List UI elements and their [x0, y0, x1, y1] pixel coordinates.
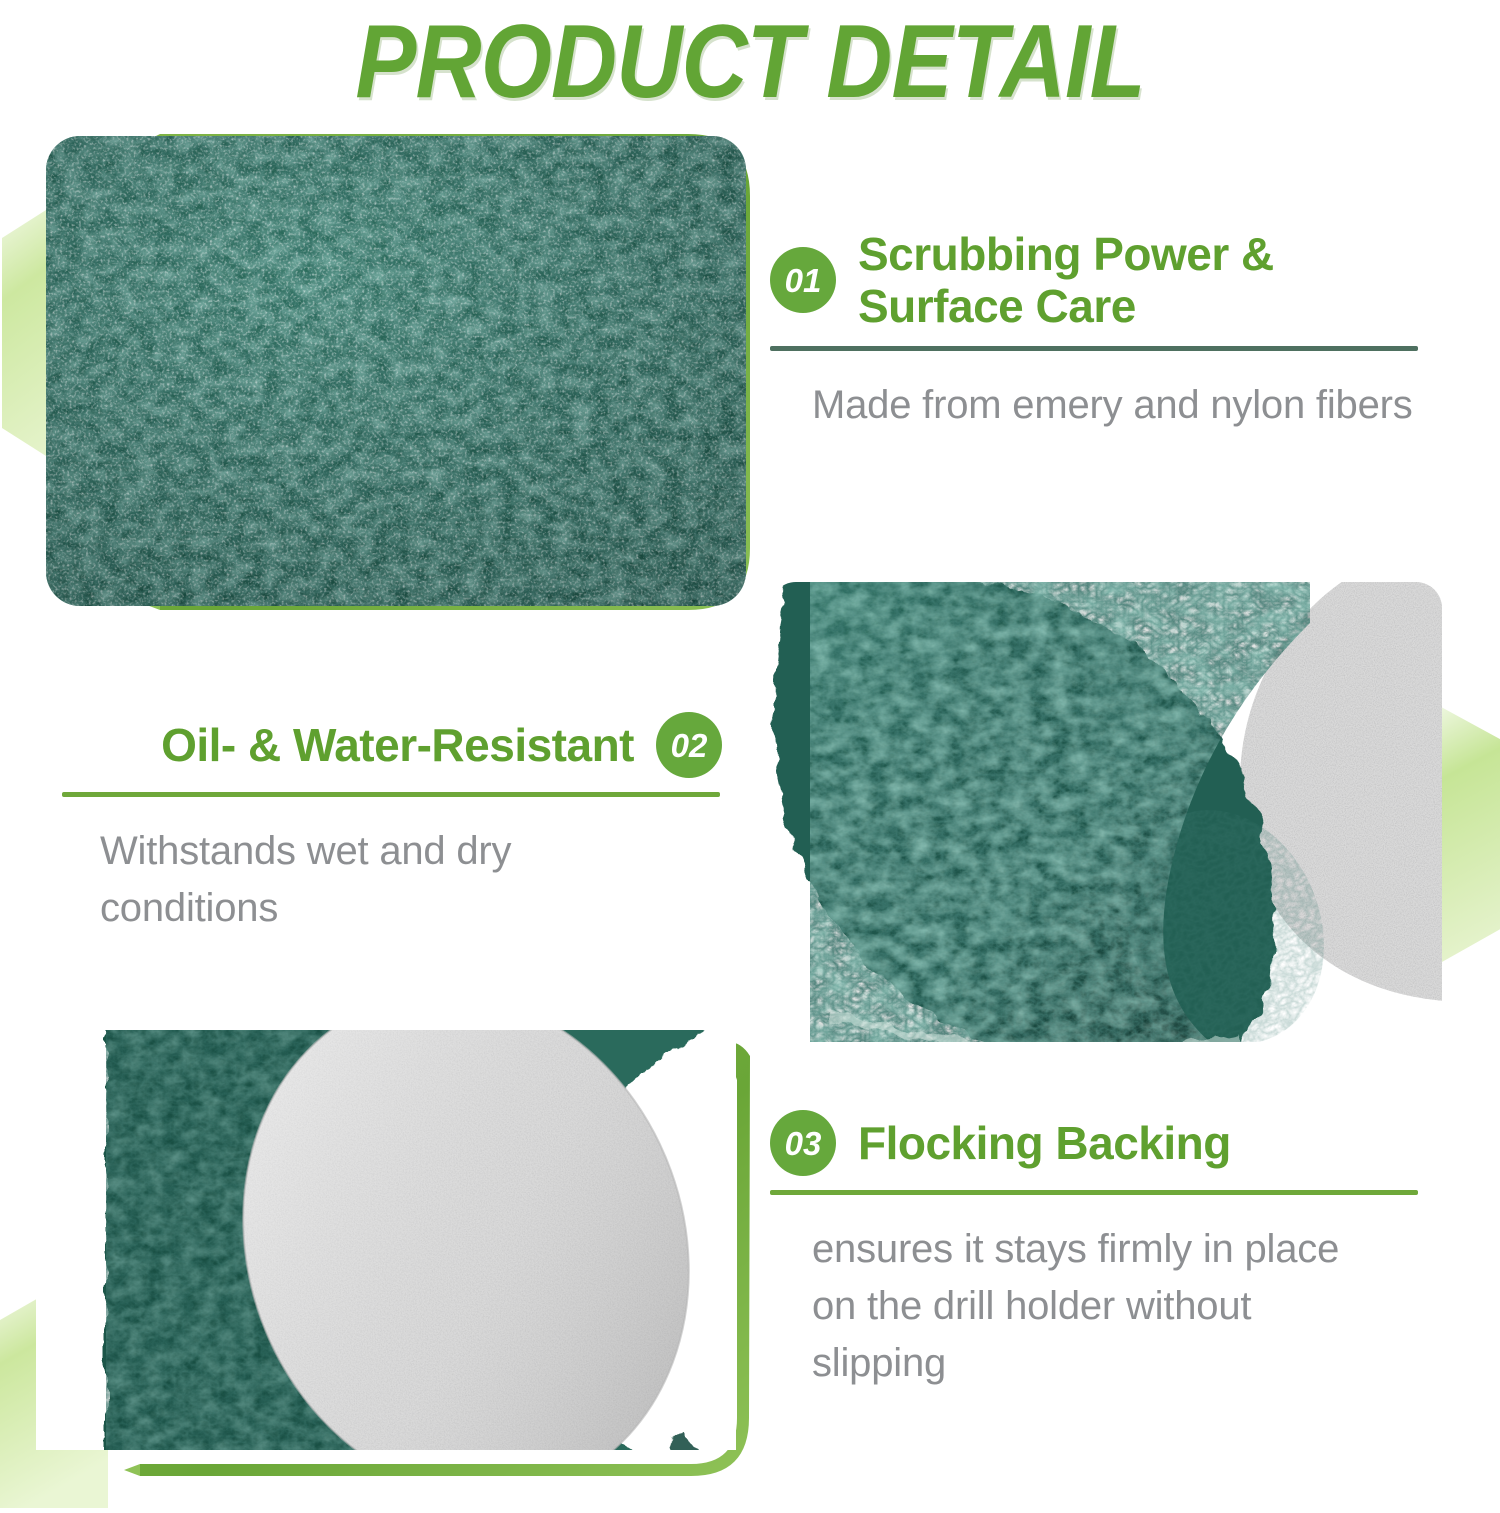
- feature-01-title: Scrubbing Power & Surface Care: [858, 228, 1274, 332]
- feature-01-body: Made from emery and nylon fibers: [770, 377, 1427, 434]
- feature-01-title-line2: Surface Care: [858, 280, 1274, 332]
- product-photo-disc-curved: [770, 582, 1442, 1042]
- feature-02-divider: [62, 792, 720, 797]
- feature-02-badge: 02: [656, 712, 722, 778]
- feature-03-title: Flocking Backing: [858, 1117, 1231, 1169]
- feature-03-body: ensures it stays firmly in place on the …: [770, 1221, 1372, 1392]
- feature-02-body: Withstands wet and dry conditions: [62, 823, 660, 937]
- feature-01-title-line1: Scrubbing Power &: [858, 228, 1274, 280]
- feature-block-03: 03 Flocking Backing ensures it stays fir…: [770, 1110, 1420, 1392]
- feature-01-header: 01 Scrubbing Power & Surface Care: [770, 228, 1420, 332]
- product-photo-disc-stack: [36, 1030, 736, 1450]
- feature-03-divider: [770, 1190, 1418, 1195]
- feature-block-01: 01 Scrubbing Power & Surface Care Made f…: [770, 228, 1420, 434]
- product-photo-pad-texture: [46, 136, 746, 606]
- feature-01-divider: [770, 346, 1418, 351]
- page-title: PRODUCT DETAIL: [90, 10, 1410, 114]
- feature-01-badge: 01: [770, 247, 836, 313]
- feature-03-header: 03 Flocking Backing: [770, 1110, 1420, 1176]
- feature-block-02: Oil- & Water-Resistant 02 Withstands wet…: [62, 712, 722, 937]
- feature-02-title: Oil- & Water-Resistant: [161, 719, 634, 771]
- feature-02-header: Oil- & Water-Resistant 02: [62, 712, 722, 778]
- feature-03-badge: 03: [770, 1110, 836, 1176]
